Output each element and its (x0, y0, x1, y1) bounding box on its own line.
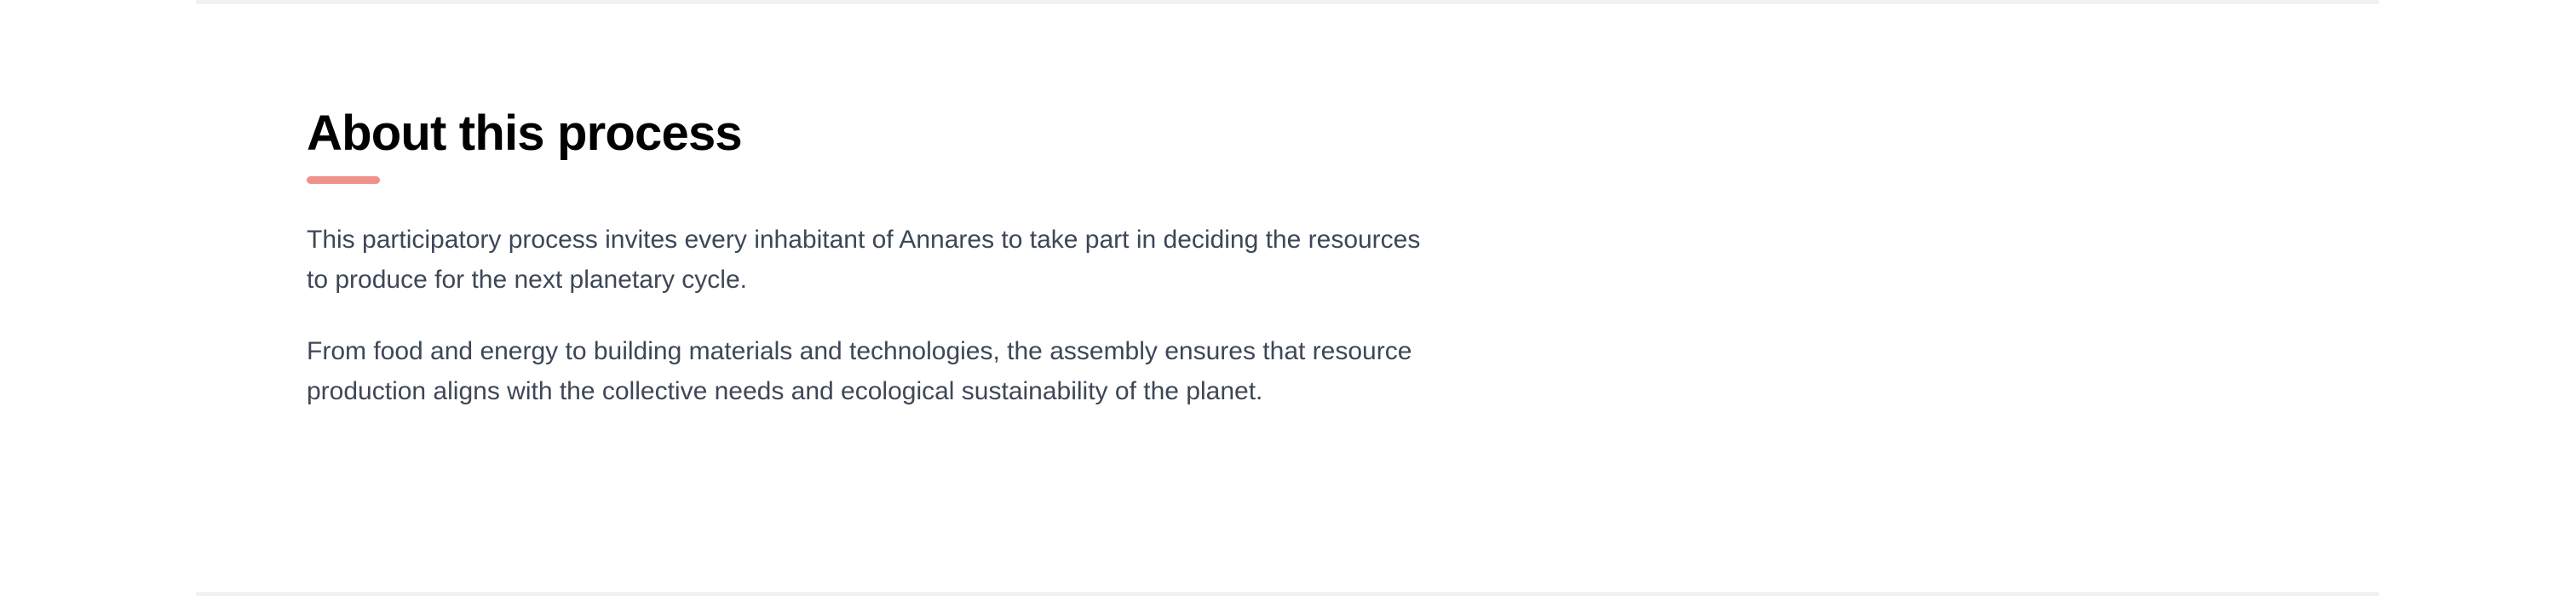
about-content-column: About this process This participatory pr… (307, 106, 1448, 411)
page-title: About this process (307, 106, 1448, 161)
about-body: This participatory process invites every… (307, 220, 1448, 411)
about-process-section: About this process This participatory pr… (196, 0, 2379, 596)
heading-accent-rule (307, 176, 380, 184)
about-paragraph-1: This participatory process invites every… (307, 220, 1444, 300)
about-paragraph-2: From food and energy to building materia… (307, 331, 1444, 411)
